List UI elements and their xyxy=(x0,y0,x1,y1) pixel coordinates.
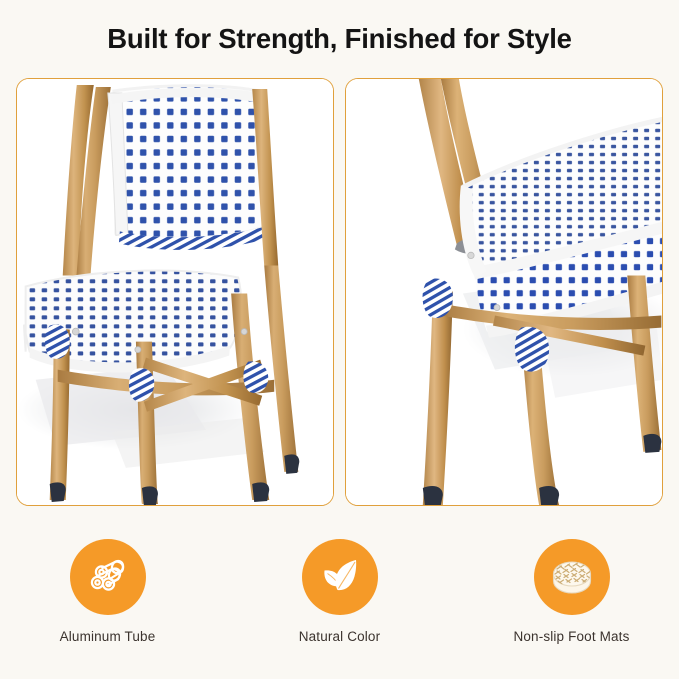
photo-panel-group xyxy=(16,78,663,506)
photo-panel-left xyxy=(16,78,334,506)
natural-color-badge xyxy=(302,539,378,615)
aluminum-tube-badge xyxy=(70,539,146,615)
feature-item-aluminum-tube: Aluminum Tube xyxy=(23,539,193,644)
chair-rear-illustration xyxy=(17,79,333,505)
feature-label-natural-color: Natural Color xyxy=(299,629,380,644)
aluminum-tube-icon xyxy=(84,553,132,601)
page-title: Built for Strength, Finished for Style xyxy=(0,23,679,55)
feature-label-aluminum-tube: Aluminum Tube xyxy=(60,629,156,644)
photo-panel-right xyxy=(345,78,663,506)
feature-item-natural-color: Natural Color xyxy=(255,539,425,644)
foot-mat-badge xyxy=(534,539,610,615)
leaf-icon xyxy=(316,553,364,601)
feature-list: Aluminum Tube Natural Color xyxy=(0,539,679,644)
feature-label-foot-mats: Non-slip Foot Mats xyxy=(514,629,630,644)
feature-item-foot-mats: Non-slip Foot Mats xyxy=(487,539,657,644)
foot-mat-icon xyxy=(547,553,597,601)
chair-seat-illustration xyxy=(346,79,662,505)
product-infographic: Built for Strength, Finished for Style xyxy=(0,0,679,679)
chair-seat-closeup-photo xyxy=(346,79,662,505)
chair-rear-view-photo xyxy=(17,79,333,505)
